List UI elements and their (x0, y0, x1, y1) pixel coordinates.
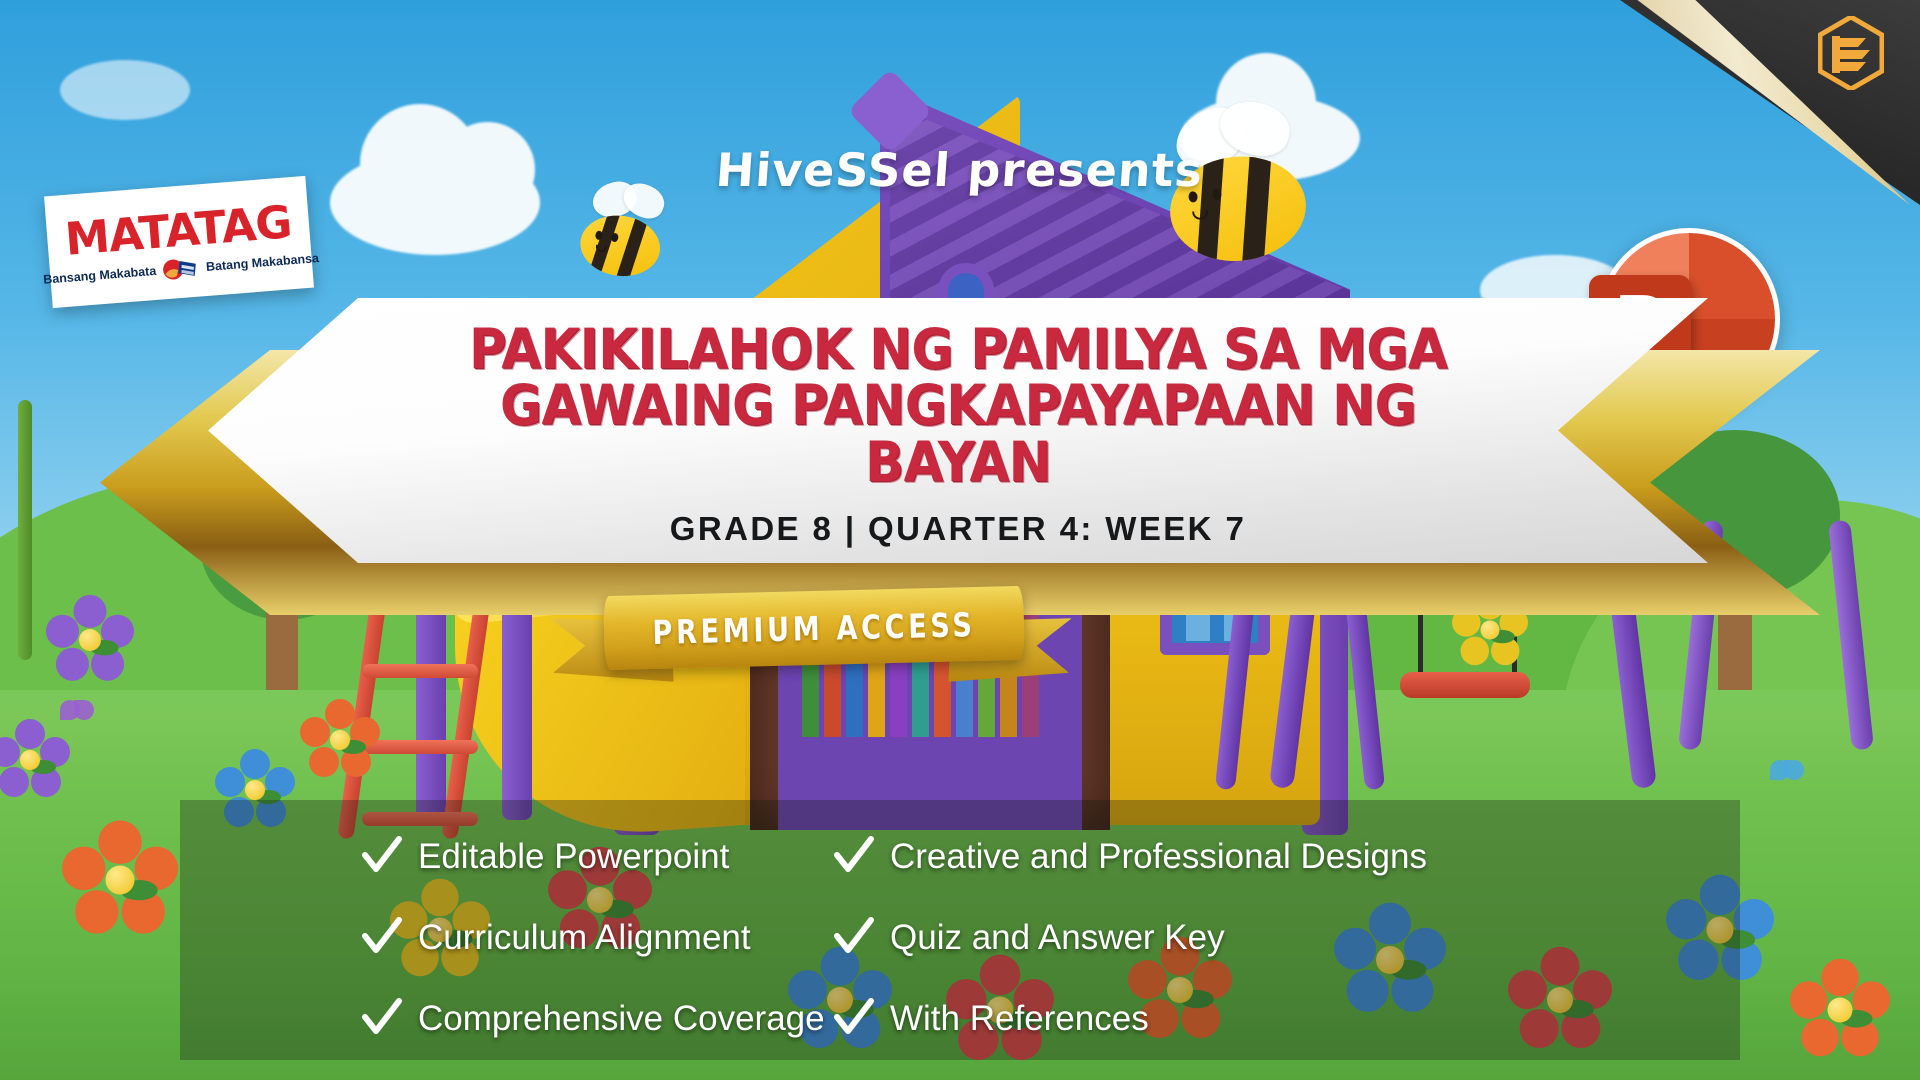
grade-quarter-week-label: GRADE 8 | QUARTER 4: WEEK 7 (670, 510, 1246, 548)
features-right-column: Creative and Professional Designs Quiz a… (760, 816, 1520, 1060)
list-item: Quiz and Answer Key (832, 916, 1520, 960)
page-title: PAKIKILAHOK NG PAMILYA SA MGA GAWAING PA… (409, 321, 1506, 489)
check-mark-icon (360, 916, 404, 960)
feature-label: With References (890, 999, 1149, 1039)
list-item: Curriculum Alignment (360, 916, 760, 960)
check-mark-icon (832, 916, 876, 960)
check-mark-icon (832, 997, 876, 1041)
garden-pole (18, 400, 32, 660)
heart-hand-book-emblem-icon (160, 255, 202, 282)
list-item: Editable Powerpoint (360, 835, 760, 879)
list-item: Comprehensive Coverage (360, 997, 760, 1041)
butterfly-icon (1770, 760, 1804, 782)
feature-label: Creative and Professional Designs (890, 837, 1427, 877)
matatag-tagline-right: Batang Makabansa (205, 251, 319, 274)
list-item: Creative and Professional Designs (832, 835, 1520, 879)
butterfly-icon (60, 700, 94, 722)
feature-label: Editable Powerpoint (418, 837, 729, 877)
brand-presents-text: HiveSSel presents (715, 143, 1206, 197)
hexagon-hive-logo-icon (1818, 16, 1884, 90)
brand-presents: HiveSSel presents (0, 143, 1920, 197)
premium-access-label: PREMIUM ACCESS (652, 605, 976, 652)
ribbon-body: PREMIUM ACCESS (603, 586, 1025, 670)
feature-label: Curriculum Alignment (418, 918, 751, 958)
matatag-tagline-left: Bansang Makabata (43, 263, 157, 286)
check-mark-icon (360, 835, 404, 879)
feature-label: Quiz and Answer Key (890, 918, 1225, 958)
list-item: With References (832, 997, 1520, 1041)
check-mark-icon (832, 835, 876, 879)
banner-white-panel: PAKIKILAHOK NG PAMILYA SA MGA GAWAING PA… (208, 298, 1708, 563)
features-strip: Editable Powerpoint Curriculum Alignment… (180, 800, 1740, 1060)
cloud-icon (60, 60, 190, 120)
check-mark-icon (360, 997, 404, 1041)
features-left-column: Editable Powerpoint Curriculum Alignment… (180, 816, 760, 1060)
title-banner: PAKIKILAHOK NG PAMILYA SA MGA GAWAING PA… (100, 350, 1820, 615)
premium-access-ribbon: PREMIUM ACCESS (556, 585, 1066, 695)
